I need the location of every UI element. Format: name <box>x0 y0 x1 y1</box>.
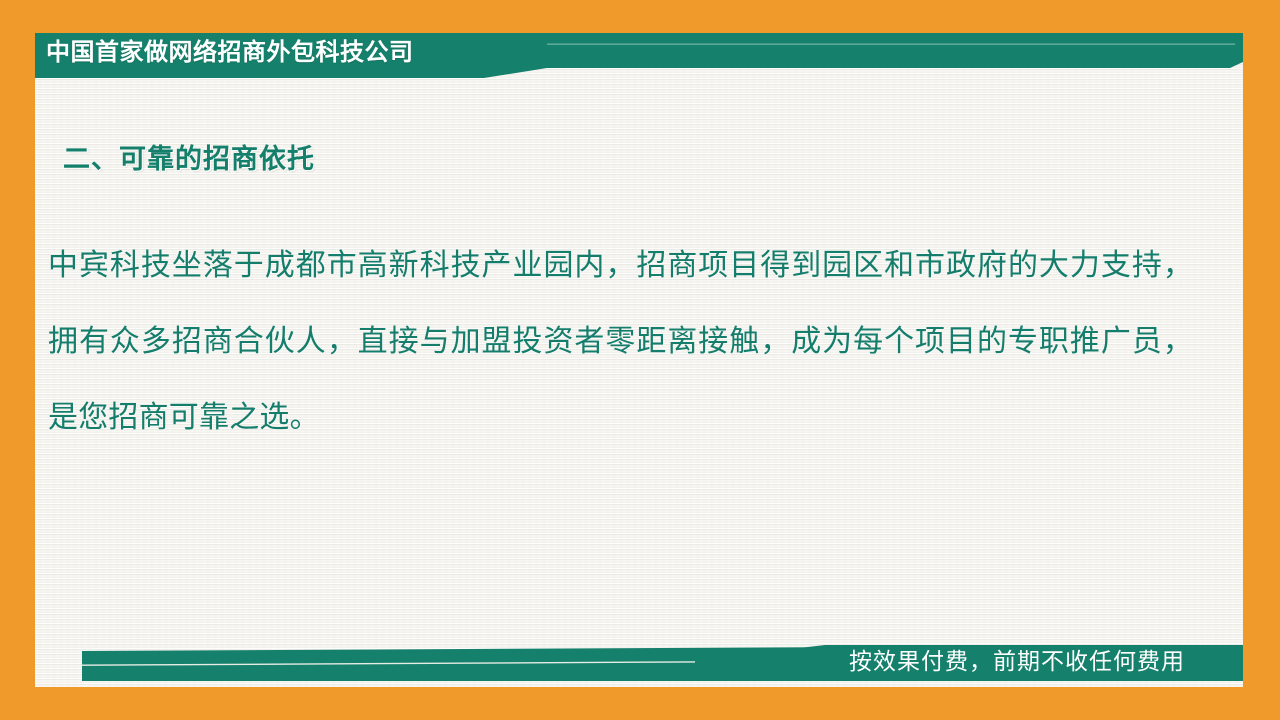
presentation-slide: 中国首家做网络招商外包科技公司 二、可靠的招商依托 中宾科技坐落于成都市高新科技… <box>0 0 1280 720</box>
footer-tagline: 按效果付费，前期不收任何费用 <box>849 645 1185 677</box>
body-paragraph: 中宾科技坐落于成都市高新科技产业园内，招商项目得到园区和市政府的大力支持，拥有众… <box>48 228 1193 456</box>
slide-content: 二、可靠的招商依托 中宾科技坐落于成都市高新科技产业园内，招商项目得到园区和市政… <box>35 90 1243 630</box>
section-heading: 二、可靠的招商依托 <box>63 137 315 176</box>
header-title: 中国首家做网络招商外包科技公司 <box>46 36 414 70</box>
